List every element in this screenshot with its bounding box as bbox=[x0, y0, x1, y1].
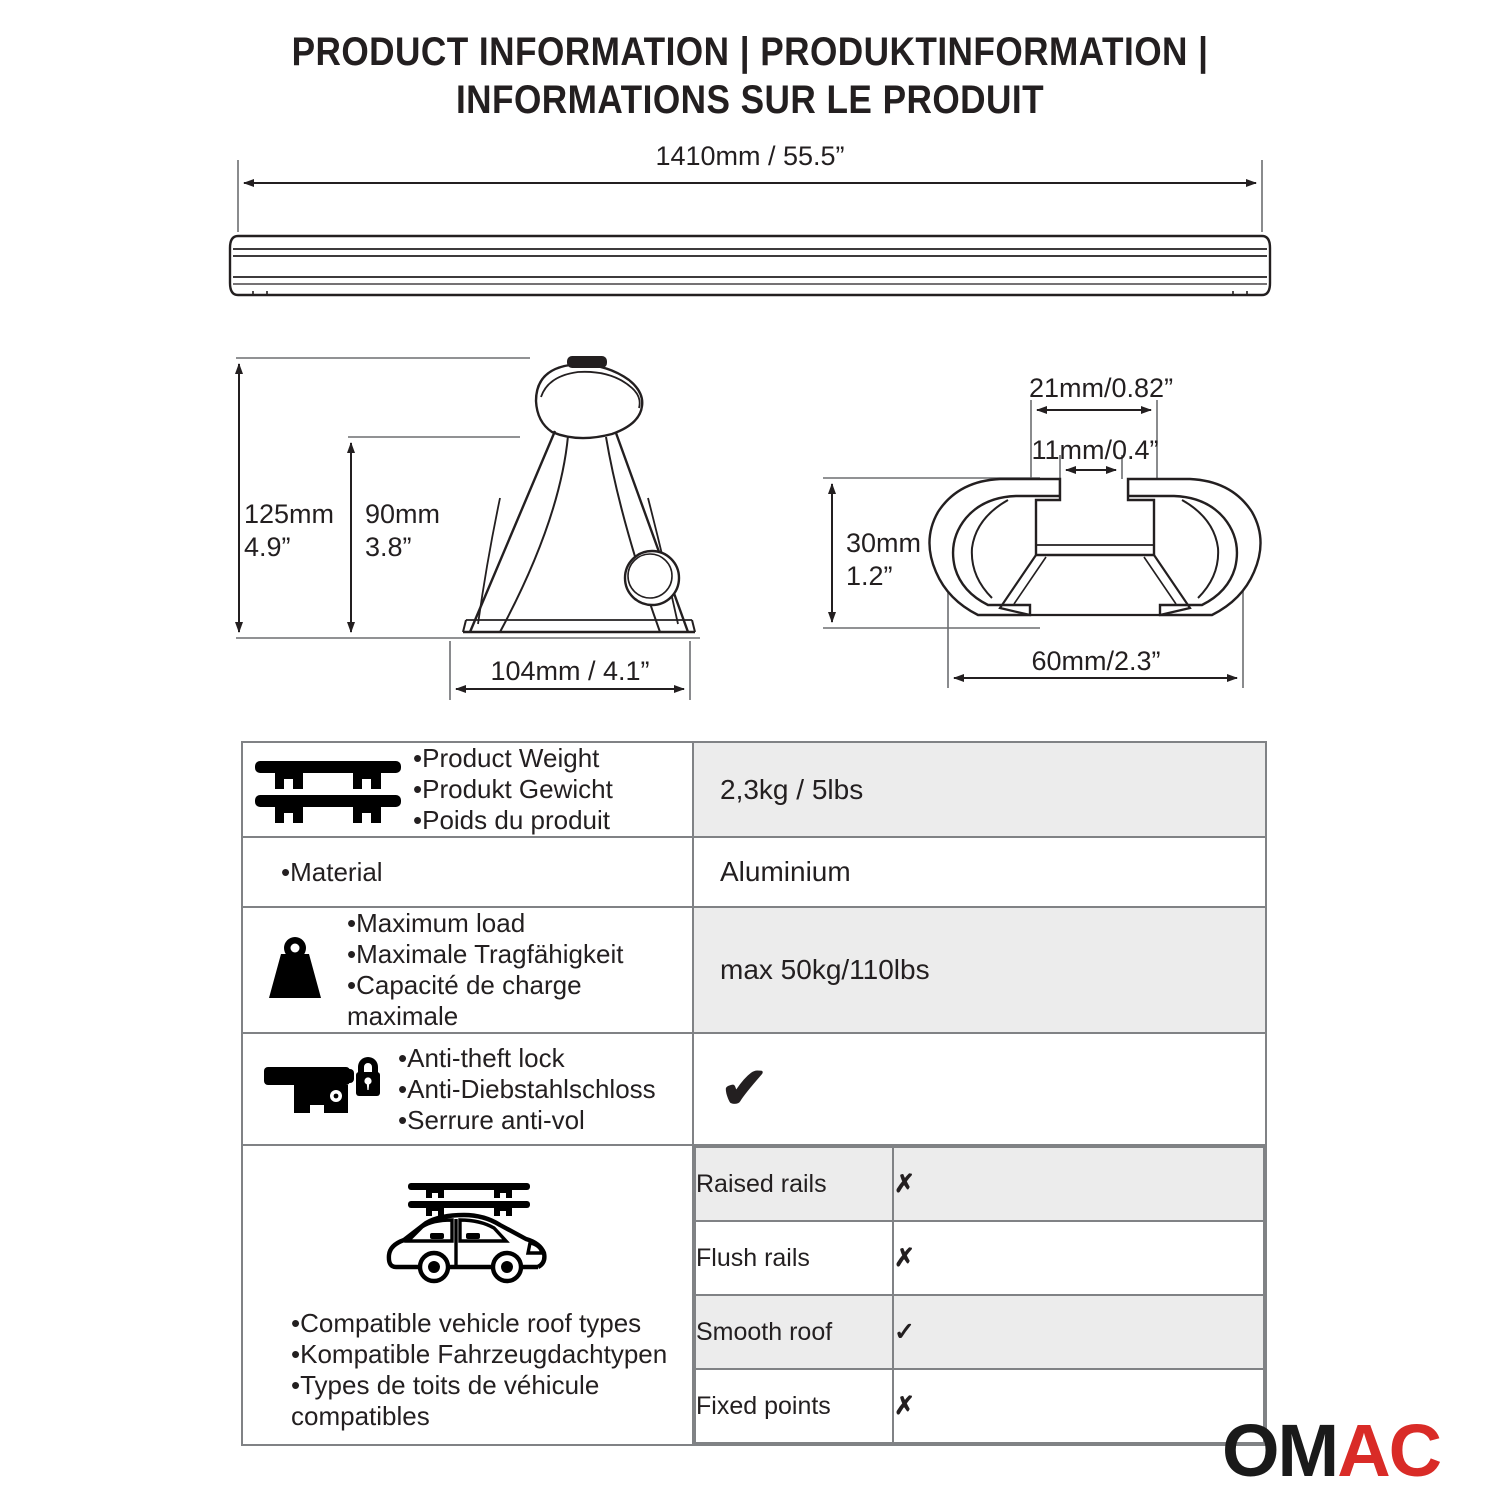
table-row: •Maximum load •Maximale Tragfähigkeit •C… bbox=[242, 907, 1266, 1033]
roof-type-mark: ✗ bbox=[893, 1147, 1264, 1221]
roof-type-name: Fixed points bbox=[695, 1369, 893, 1443]
title-line-2: INFORMATIONS SUR LE PRODUIT bbox=[90, 76, 1410, 124]
row-label-text: •Material bbox=[281, 857, 383, 888]
row-label-text: •Maximum load •Maximale Tragfähigkeit •C… bbox=[347, 908, 692, 1032]
product-spec-table: •Product Weight •Produkt Gewicht •Poids … bbox=[241, 741, 1267, 1446]
table-row: •Compatible vehicle roof types •Kompatib… bbox=[242, 1145, 1266, 1445]
roof-type-name: Flush rails bbox=[695, 1221, 893, 1295]
roof-type-mark: ✗ bbox=[893, 1221, 1264, 1295]
roof-type-row: Fixed points ✗ bbox=[695, 1369, 1264, 1443]
foot-total-height-label-1: 125mm bbox=[244, 498, 334, 531]
section-height-label-1: 30mm bbox=[846, 527, 921, 560]
roof-type-row: Smooth roof ✓ bbox=[695, 1295, 1264, 1369]
row-value-cell: ✔ bbox=[693, 1033, 1266, 1145]
car-with-roof-bars-icon bbox=[243, 1175, 692, 1298]
row-label-cell: •Anti-theft lock •Anti-Diebstahlschloss … bbox=[242, 1033, 693, 1145]
row-value-cell: Aluminium bbox=[693, 837, 1266, 907]
row-label-text: •Compatible vehicle roof types •Kompatib… bbox=[243, 1298, 692, 1432]
row-label-text: •Product Weight •Produkt Gewicht •Poids … bbox=[413, 743, 613, 836]
roof-type-row: Flush rails ✗ bbox=[695, 1221, 1264, 1295]
foot-width-label: 104mm / 4.1” bbox=[450, 655, 690, 688]
row-label-text: •Anti-theft lock •Anti-Diebstahlschloss … bbox=[398, 1043, 656, 1136]
slot-outer-width-label: 21mm/0.82” bbox=[1029, 372, 1159, 405]
roof-types-table: Raised rails ✗ Flush rails ✗ Smooth roof… bbox=[694, 1146, 1265, 1444]
row-value-cell: max 50kg/110lbs bbox=[693, 907, 1266, 1033]
roof-type-mark: ✓ bbox=[893, 1295, 1264, 1369]
roof-types-subtable-cell: Raised rails ✗ Flush rails ✗ Smooth roof… bbox=[693, 1145, 1266, 1445]
weight-icon bbox=[243, 934, 347, 1006]
foot-total-height-label-2: 4.9” bbox=[244, 531, 291, 564]
roof-type-row: Raised rails ✗ bbox=[695, 1147, 1264, 1221]
roof-type-mark: ✗ bbox=[893, 1369, 1264, 1443]
section-width-label: 60mm/2.3” bbox=[948, 645, 1244, 678]
row-label-cell: •Compatible vehicle roof types •Kompatib… bbox=[242, 1145, 693, 1445]
roof-type-name: Raised rails bbox=[695, 1147, 893, 1221]
title-line-1: PRODUCT INFORMATION | PRODUKTINFORMATION… bbox=[90, 28, 1410, 76]
roof-type-name: Smooth roof bbox=[695, 1295, 893, 1369]
roof-bars-pair-icon bbox=[243, 757, 413, 823]
slot-inner-width-label: 11mm/0.4” bbox=[1026, 434, 1164, 467]
omac-logo: OMAC bbox=[1222, 1414, 1440, 1488]
row-label-cell: •Material bbox=[242, 837, 693, 907]
foot-inner-height-label-1: 90mm bbox=[365, 498, 440, 531]
table-row: •Anti-theft lock •Anti-Diebstahlschloss … bbox=[242, 1033, 1266, 1145]
checkmark-icon: ✔ bbox=[720, 1056, 769, 1121]
table-row: •Material Aluminium bbox=[242, 837, 1266, 907]
top-length-label: 1410mm / 55.5” bbox=[0, 140, 1500, 173]
section-height-label-2: 1.2” bbox=[846, 560, 893, 593]
logo-text-red: AC bbox=[1337, 1409, 1440, 1492]
row-value-cell: 2,3kg / 5lbs bbox=[693, 742, 1266, 837]
table-row: •Product Weight •Produkt Gewicht •Poids … bbox=[242, 742, 1266, 837]
bar-lock-icon bbox=[243, 1053, 398, 1125]
foot-inner-height-label-2: 3.8” bbox=[365, 531, 412, 564]
logo-text-black: OM bbox=[1222, 1409, 1337, 1492]
row-label-cell: •Maximum load •Maximale Tragfähigkeit •C… bbox=[242, 907, 693, 1033]
page-title: PRODUCT INFORMATION | PRODUKTINFORMATION… bbox=[0, 28, 1500, 124]
row-label-cell: •Product Weight •Produkt Gewicht •Poids … bbox=[242, 742, 693, 837]
